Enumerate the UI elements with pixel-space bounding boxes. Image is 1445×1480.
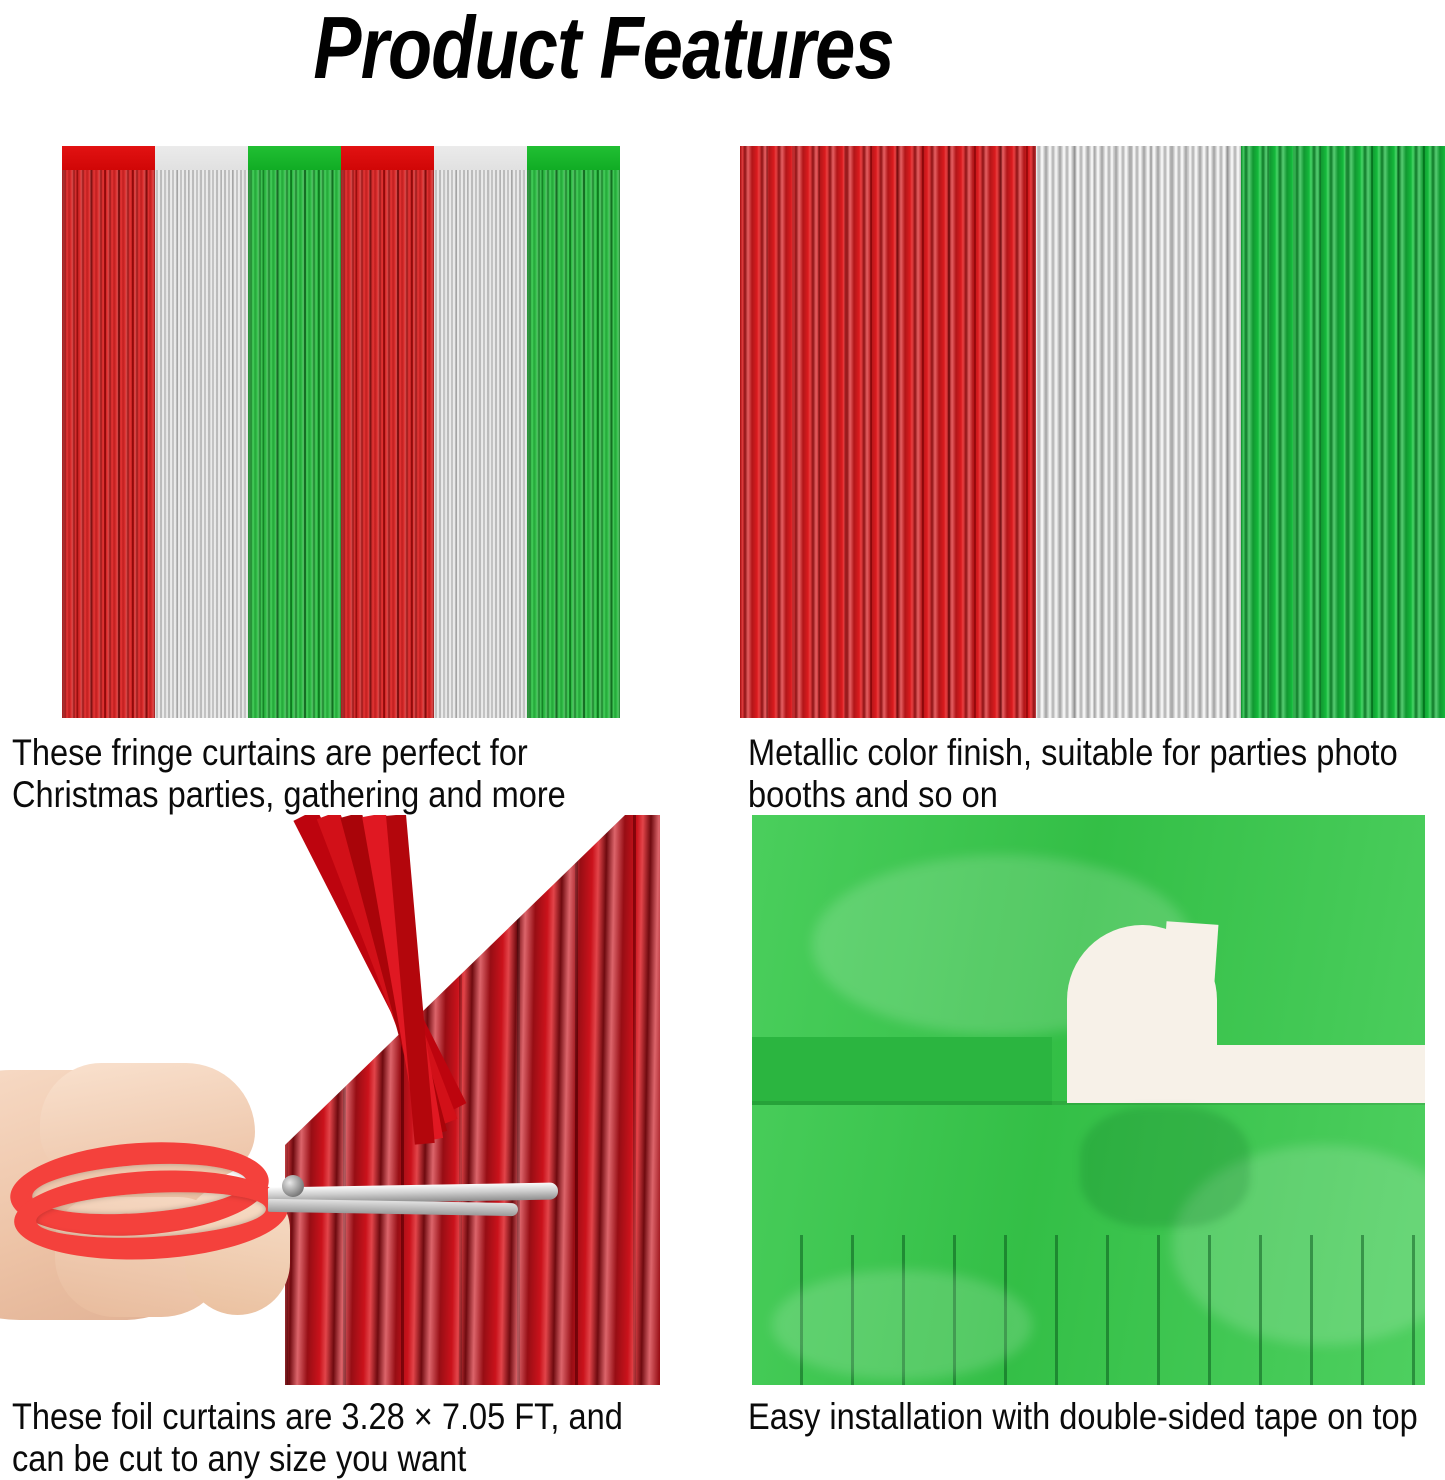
curtain-strip-group — [62, 146, 620, 718]
feature-image-fringe-curtain-set — [62, 146, 620, 718]
metallic-block-group — [740, 146, 1445, 718]
strip-fringe-texture — [527, 170, 620, 718]
double-sided-tape-peel-end — [1162, 921, 1219, 996]
curtain-strip-silver-1 — [155, 146, 248, 718]
feature-caption-double-sided-tape: Easy installation with double-sided tape… — [748, 1396, 1445, 1438]
green-foil-top-band — [752, 1037, 1052, 1105]
strip-fringe-texture — [248, 170, 341, 718]
strip-fringe-texture — [434, 170, 527, 718]
scissors-pivot-screw — [282, 1175, 304, 1197]
strip-fringe-texture — [62, 170, 155, 718]
strip-header-band — [62, 146, 155, 172]
curtain-strip-red-2 — [341, 146, 434, 718]
metallic-block-green — [1241, 146, 1445, 718]
feature-image-double-sided-tape — [752, 815, 1425, 1385]
feature-image-metallic-finish — [740, 146, 1445, 718]
feature-caption-metallic-finish: Metallic color finish, suitable for part… — [748, 732, 1443, 816]
curtain-strip-silver-2 — [434, 146, 527, 718]
feature-image-cuttable-size — [0, 815, 660, 1385]
strip-fringe-texture — [341, 170, 434, 718]
strip-header-band — [341, 146, 434, 172]
strip-header-band — [527, 146, 620, 172]
strip-header-band — [434, 146, 527, 172]
strip-fringe-texture — [155, 170, 248, 718]
feature-caption-cuttable-size: These foil curtains are 3.28 × 7.05 FT, … — [12, 1396, 707, 1480]
curtain-strip-green-1 — [248, 146, 341, 718]
metallic-block-red — [740, 146, 1036, 718]
tape-shadow — [1080, 1107, 1250, 1227]
strip-header-band — [248, 146, 341, 172]
page-title: Product Features — [130, 2, 1315, 94]
curtain-strip-green-2 — [527, 146, 620, 718]
metallic-block-silver — [1036, 146, 1240, 718]
curtain-strip-red-1 — [62, 146, 155, 718]
feature-caption-curtain-set: These fringe curtains are perfect for Ch… — [12, 732, 698, 816]
foil-gloss-highlight — [772, 1270, 1032, 1380]
strip-header-band — [155, 146, 248, 172]
